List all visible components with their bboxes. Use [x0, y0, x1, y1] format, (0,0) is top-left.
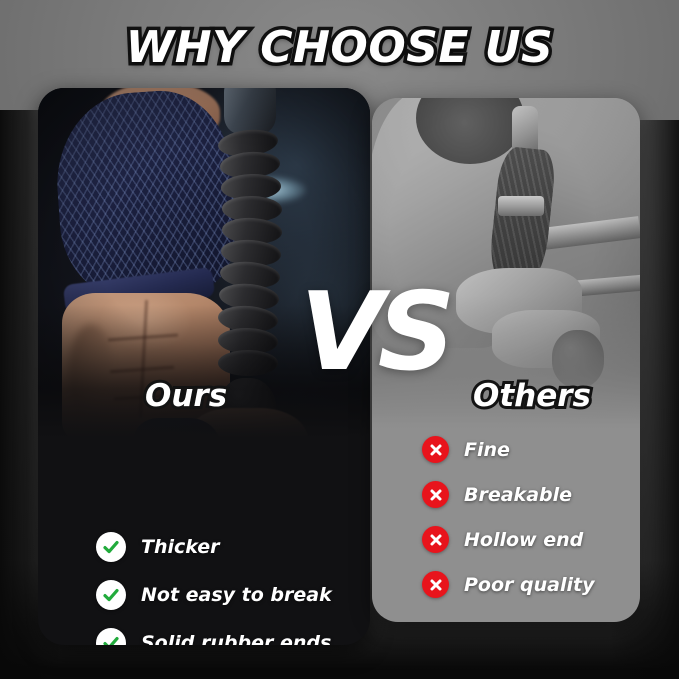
cross-circle-icon — [422, 481, 449, 508]
cross-circle-icon — [422, 436, 449, 463]
feature-label: Poor quality — [464, 574, 594, 596]
vs-badge: VS — [300, 279, 449, 387]
feature-list-ours: Thicker Not easy to break Solid rubber e… — [96, 532, 370, 645]
check-circle-icon — [96, 532, 126, 562]
feature-label: Not easy to break — [141, 584, 332, 606]
feature-label: Hollow end — [464, 529, 583, 551]
cross-circle-icon — [422, 571, 449, 598]
feature-item: Thicker — [96, 532, 370, 562]
feature-item: Not easy to break — [96, 580, 370, 610]
cross-circle-icon — [422, 526, 449, 553]
label-ours: Ours — [145, 378, 227, 414]
feature-item: Hollow end — [422, 526, 637, 553]
feature-item: Poor quality — [422, 571, 637, 598]
feature-label: Solid rubber ends — [141, 632, 331, 645]
feature-item: Breakable — [422, 481, 637, 508]
feature-item: Solid rubber ends — [96, 628, 370, 645]
page-title: WHY CHOOSE US — [0, 22, 679, 73]
feature-item: Fine — [422, 436, 637, 463]
comparison-infographic: WHY CHOOSE US — [0, 0, 679, 679]
check-circle-icon — [96, 628, 126, 645]
feature-list-others: Fine Breakable Hollow end Poor quality — [422, 436, 637, 616]
check-circle-icon — [96, 580, 126, 610]
feature-label: Fine — [464, 439, 510, 461]
feature-label: Breakable — [464, 484, 572, 506]
feature-label: Thicker — [141, 536, 219, 558]
label-others: Others — [473, 378, 591, 414]
